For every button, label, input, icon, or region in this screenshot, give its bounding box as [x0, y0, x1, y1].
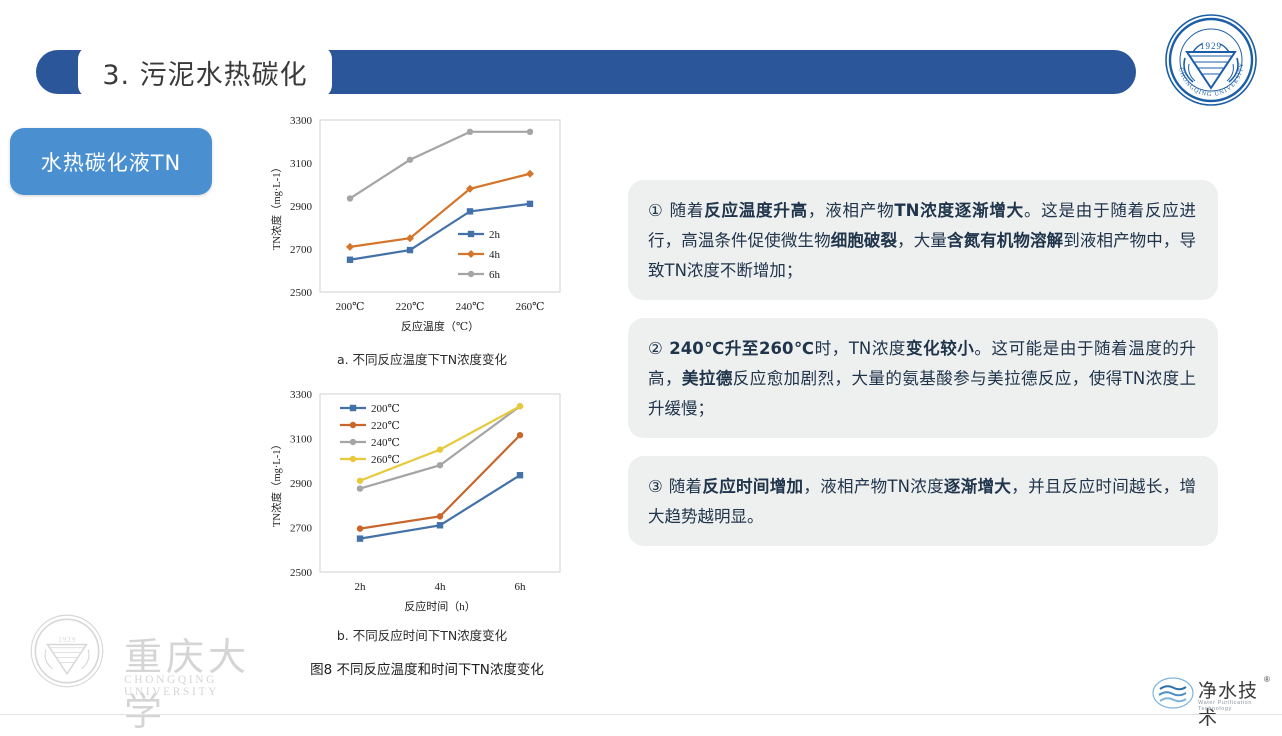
y-tick-label: 2700 — [290, 244, 313, 256]
card-text: ，液相产物 — [808, 201, 894, 220]
chart-b-x-tick-labels: 2h4h6h — [355, 581, 527, 593]
data-point — [437, 462, 443, 468]
page-title: 3. 污泥水热碳化 — [78, 46, 332, 98]
section-tag-hydrothermal-tn[interactable]: 水热碳化液TN — [10, 128, 212, 195]
figure-caption: 图8 不同反应温度和时间下TN浓度变化 — [262, 658, 592, 678]
explanation-card: ② 240℃升至260℃时，TN浓度变化较小。这可能是由于随着温度的升高，美拉德… — [628, 318, 1218, 438]
y-tick-label: 2500 — [290, 287, 313, 299]
data-point — [357, 485, 363, 491]
watermark-name-en: CHONGQING UNIVERSITY — [124, 674, 268, 698]
legend-marker — [468, 271, 474, 277]
card-text-emphasis: TN浓度逐渐增大 — [894, 201, 1024, 220]
card-text: ，液相产物TN浓度 — [803, 477, 944, 496]
y-tick-label: 2500 — [290, 567, 313, 579]
card-text-emphasis: 240℃升至260℃ — [669, 339, 814, 358]
cqu-watermark: 1929 重庆大学 CHONGQING UNIVERSITY — [28, 612, 268, 704]
chart-b-plot-area — [320, 394, 560, 572]
y-tick-label: 3300 — [290, 115, 313, 127]
card-text-emphasis: 逐渐增大 — [944, 477, 1011, 496]
x-tick-label: 2h — [355, 581, 367, 593]
legend-label: 2h — [489, 229, 501, 241]
card-text: 随着 — [670, 201, 705, 220]
card-text: 时，TN浓度 — [815, 339, 906, 358]
data-point — [357, 525, 363, 531]
legend-marker — [350, 456, 356, 462]
legend-label: 240℃ — [371, 437, 400, 449]
data-point — [347, 257, 353, 263]
chart-b-caption: b. 不同反应时间下TN浓度变化 — [262, 625, 582, 644]
x-tick-label: 200℃ — [336, 301, 365, 313]
seal-year: 1929 — [1200, 41, 1222, 51]
card-text-emphasis: 反应温度升高 — [704, 201, 808, 220]
chart-a: 25002700290031003300 200℃220℃240℃260℃ 2h… — [262, 112, 582, 368]
chart-b-y-tick-labels: 25002700290031003300 — [290, 389, 313, 579]
legend-marker — [350, 405, 356, 411]
card-text-emphasis: 反应时间增加 — [702, 477, 803, 496]
data-point — [407, 157, 413, 163]
chart-b-xlabel: 反应时间（h） — [404, 599, 476, 613]
card-text: ，大量 — [897, 231, 947, 250]
legend-label: 4h — [489, 249, 501, 261]
y-tick-label: 2900 — [290, 478, 313, 490]
explanation-card: ① 随着反应温度升高，液相产物TN浓度逐渐增大。这是由于随着反应进行，高温条件促… — [628, 180, 1218, 300]
chart-a-ylabel: TN浓度（mg·L-1） — [270, 162, 283, 250]
bottom-divider — [0, 714, 1282, 715]
legend-marker — [468, 231, 474, 237]
chart-a-xlabel: 反应温度（℃） — [401, 319, 479, 333]
card-marker: ② — [648, 339, 669, 358]
data-point — [437, 513, 443, 519]
data-point — [437, 522, 443, 528]
slide: 3. 污泥水热碳化 1929 CHONGQING UNIVERSITY 水热碳化… — [0, 0, 1282, 723]
y-tick-label: 2900 — [290, 201, 313, 213]
data-point — [347, 195, 353, 201]
card-marker: ③ — [648, 477, 669, 496]
figure-column: 25002700290031003300 200℃220℃240℃260℃ 2h… — [262, 112, 592, 657]
cqu-seal-logo: 1929 CHONGQING UNIVERSITY — [1163, 12, 1259, 108]
data-point — [517, 403, 523, 409]
data-point — [357, 535, 363, 541]
x-tick-label: 220℃ — [396, 301, 425, 313]
chart-b: 25002700290031003300 2h4h6h 200℃220℃240℃… — [262, 386, 582, 644]
explanation-cards: ① 随着反应温度升高，液相产物TN浓度逐渐增大。这是由于随着反应进行，高温条件促… — [628, 180, 1218, 564]
legend-label: 260℃ — [371, 454, 400, 466]
card-text-emphasis: 含氮有机物溶解 — [947, 231, 1063, 250]
chart-a-caption: a. 不同反应温度下TN浓度变化 — [262, 349, 582, 368]
brand-name-en: Water Purification Technology — [1198, 700, 1274, 712]
data-point — [517, 472, 523, 478]
brand-logo: 净水技术 ® Water Purification Technology — [1152, 676, 1274, 716]
data-point — [467, 129, 473, 135]
explanation-card: ③ 随着反应时间增加，液相产物TN浓度逐渐增大，并且反应时间越长，增大趋势越明显… — [628, 456, 1218, 546]
y-tick-label: 3100 — [290, 158, 313, 170]
legend-marker — [350, 422, 356, 428]
card-text-emphasis: 细胞破裂 — [831, 231, 897, 250]
legend-marker — [350, 439, 356, 445]
data-point — [357, 478, 363, 484]
cqu-seal-icon: 1929 CHONGQING UNIVERSITY — [1163, 12, 1259, 108]
chart-b-svg: 25002700290031003300 2h4h6h 200℃220℃240℃… — [262, 386, 582, 616]
card-text: 随着 — [669, 477, 703, 496]
x-tick-label: 260℃ — [516, 301, 545, 313]
cqu-watermark-seal-icon: 1929 — [28, 612, 106, 690]
chart-b-ylabel: TN浓度（mg·L-1） — [270, 439, 283, 527]
card-text-emphasis: 美拉德 — [682, 369, 733, 388]
card-text-emphasis: 变化较小 — [906, 339, 974, 358]
legend-label: 200℃ — [371, 403, 400, 415]
data-point — [527, 129, 533, 135]
data-point — [527, 201, 533, 207]
legend-label: 220℃ — [371, 420, 400, 432]
data-point — [407, 247, 413, 253]
chart-a-x-tick-labels: 200℃220℃240℃260℃ — [336, 301, 545, 313]
brand-registered-mark: ® — [1264, 675, 1270, 684]
x-tick-label: 6h — [515, 581, 527, 593]
x-tick-label: 4h — [435, 581, 447, 593]
data-point — [517, 432, 523, 438]
chart-a-y-tick-labels: 25002700290031003300 — [290, 115, 313, 299]
water-wave-icon — [1152, 676, 1194, 710]
y-tick-label: 3100 — [290, 434, 313, 446]
x-tick-label: 240℃ — [456, 301, 485, 313]
data-point — [467, 208, 473, 214]
chart-a-svg: 25002700290031003300 200℃220℃240℃260℃ 2h… — [262, 112, 582, 340]
y-tick-label: 3300 — [290, 389, 313, 401]
y-tick-label: 2700 — [290, 523, 313, 535]
page-title-text: 3. 污泥水热碳化 — [102, 53, 307, 92]
section-tag-label: 水热碳化液TN — [41, 147, 182, 177]
data-point — [437, 446, 443, 452]
legend-label: 6h — [489, 269, 501, 281]
card-marker: ① — [648, 201, 670, 220]
svg-text:1929: 1929 — [58, 635, 76, 644]
